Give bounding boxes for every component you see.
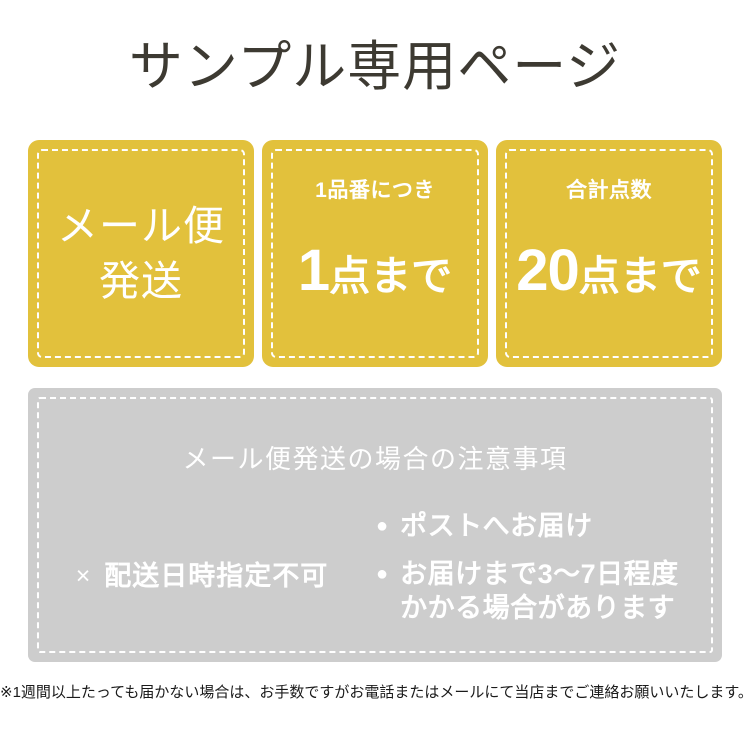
notice-panel: メール便発送の場合の注意事項 × 配送日時指定不可 ● ポストへお届け ● — [28, 388, 722, 662]
card-value-number: 1 — [298, 242, 329, 300]
list-item: ● ポストへお届け — [376, 509, 722, 543]
notice-restriction-label: 配送日時指定不可 — [104, 559, 328, 593]
bullet-line-2: かかる場合があります — [400, 591, 679, 625]
notice-restriction: × 配送日時指定不可 — [28, 506, 376, 646]
card-content: 合計点数 20 点まで — [496, 140, 722, 367]
card-value-unit: 点まで — [579, 256, 702, 297]
card-heading: 合計点数 — [566, 178, 652, 204]
notice-body: × 配送日時指定不可 ● ポストへお届け ● お届けまで3〜7日程度 かかる場合… — [28, 506, 722, 646]
card-content: メール便 発送 — [28, 140, 254, 367]
list-item: ● お届けまで3〜7日程度 かかる場合があります — [376, 557, 722, 625]
bullet-text: お届けまで3〜7日程度 かかる場合があります — [400, 557, 679, 625]
card-total-limit: 合計点数 20 点まで — [496, 140, 722, 367]
notice-heading: メール便発送の場合の注意事項 — [28, 443, 722, 475]
card-per-item-limit: 1品番につき 1 点まで — [262, 140, 488, 367]
notice-bullet-list: ● ポストへお届け ● お届けまで3〜7日程度 かかる場合があります — [376, 506, 722, 639]
notice-restriction-text: × 配送日時指定不可 — [76, 559, 329, 593]
card-heading: 1品番につき — [315, 178, 435, 204]
bullet-text: ポストへお届け — [400, 509, 593, 543]
page-title: サンプル専用ページ — [0, 33, 750, 101]
feature-card-row: メール便 発送 1品番につき 1 点まで 合計点数 20 点まで — [28, 140, 722, 367]
card-line-1: メール便 — [57, 199, 225, 254]
cross-icon: × — [76, 559, 92, 593]
card-mail-delivery: メール便 発送 — [28, 140, 254, 367]
card-value-number: 20 — [516, 242, 579, 300]
card-value: 1 点まで — [298, 242, 452, 300]
card-content: 1品番につき 1 点まで — [262, 140, 488, 367]
sample-info-page: サンプル専用ページ メール便 発送 1品番につき 1 点まで 合計点数 — [0, 0, 750, 750]
footer-note: ※1週間以上たっても届かない場合は、お手数ですがお電話またはメールにて当店までご… — [0, 682, 750, 704]
bullet-dot-icon: ● — [376, 509, 388, 543]
bullet-line-1: お届けまで3〜7日程度 — [400, 559, 679, 589]
card-line-2: 発送 — [99, 254, 183, 309]
bullet-line-1: ポストへお届け — [400, 511, 593, 541]
card-value: 20 点まで — [516, 242, 702, 300]
card-value-unit: 点まで — [329, 256, 452, 297]
bullet-dot-icon: ● — [376, 557, 388, 591]
